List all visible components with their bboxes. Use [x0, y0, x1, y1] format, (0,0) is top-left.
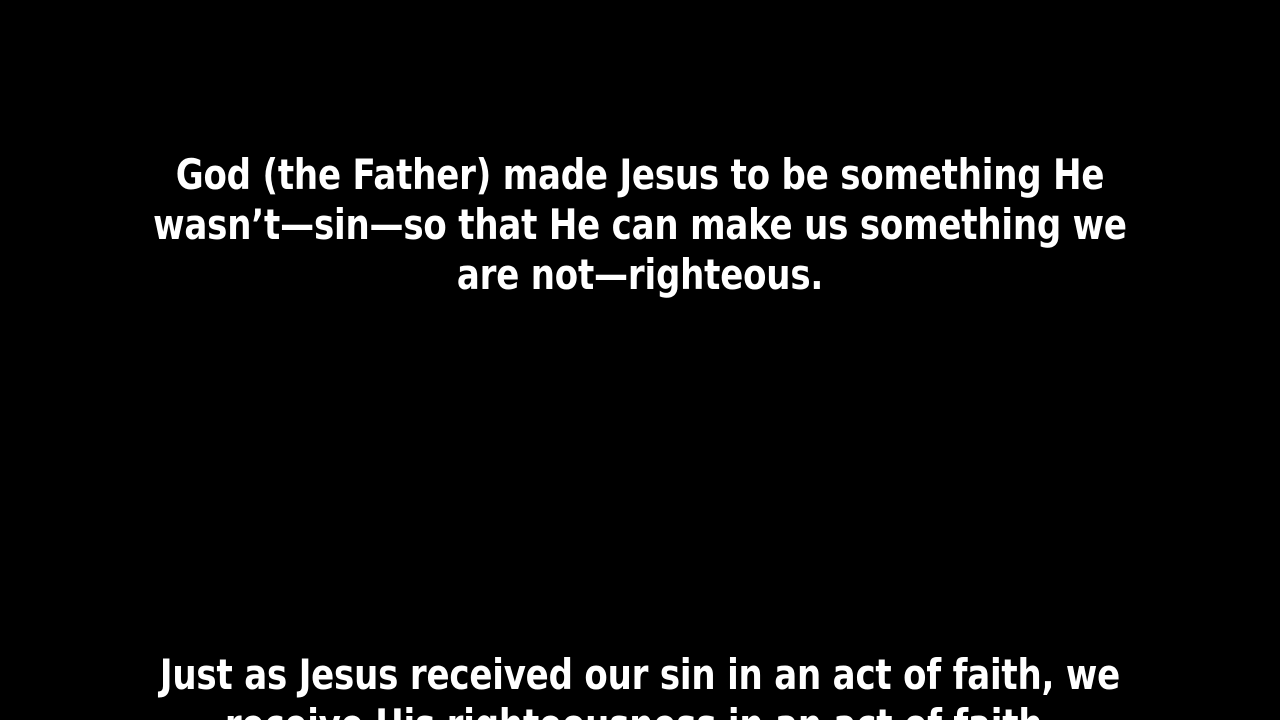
paragraph-gap-1 [118, 450, 1162, 500]
slide-body-text: God (the Father) made Jesus to be someth… [118, 0, 1162, 720]
paragraph-1: God (the Father) made Jesus to be someth… [118, 150, 1162, 300]
paragraph-2: Just as Jesus received our sin in an act… [118, 650, 1162, 720]
presentation-slide: God (the Father) made Jesus to be someth… [0, 0, 1280, 720]
